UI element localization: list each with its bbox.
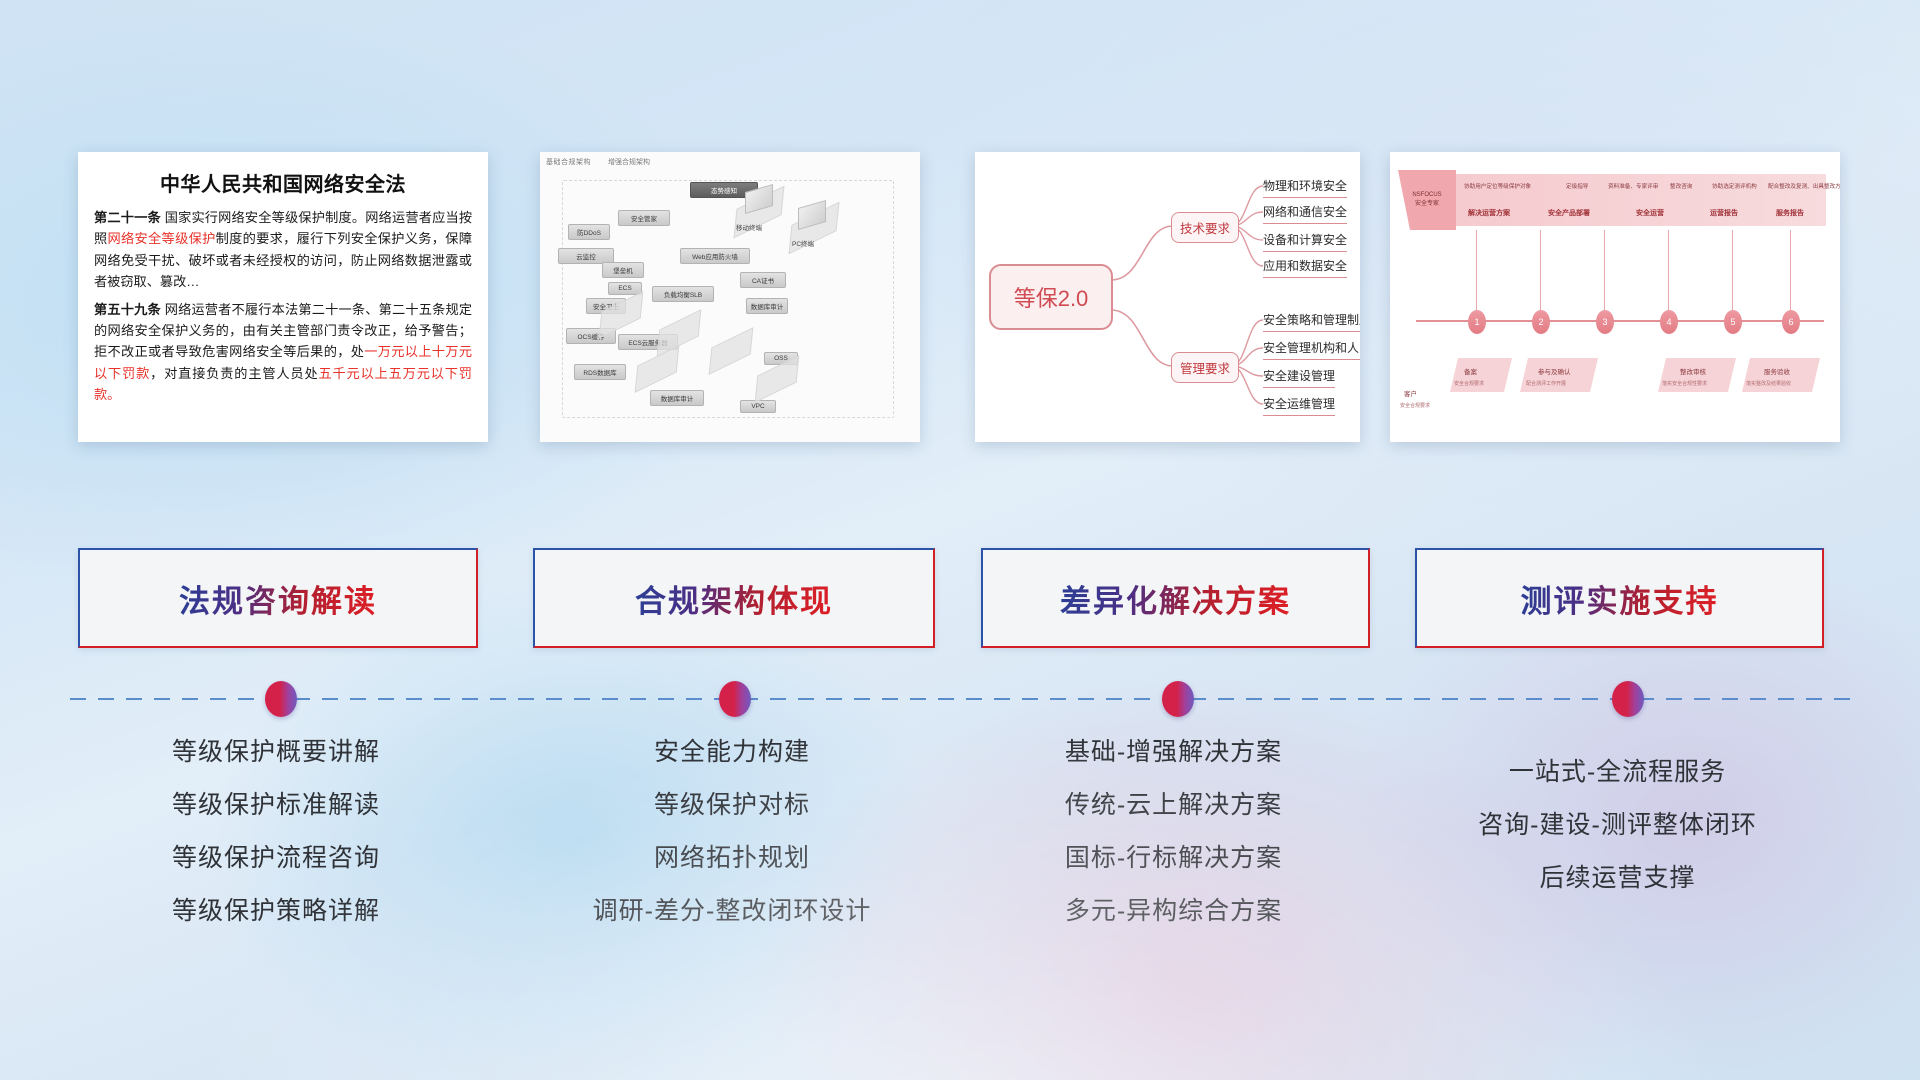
mindmap-leaf-mgmt-2: 安全建设管理 [1263, 367, 1335, 388]
detail-column-0: 等级保护概要讲解 等级保护标准解读 等级保护流程咨询 等级保护策略详解 [78, 740, 474, 952]
mindmap-root: 等保2.0 [989, 264, 1113, 330]
nsfocus-tick-5 [1790, 230, 1791, 312]
law-article-21: 第二十一条 国家实行网络安全等级保护制度。网络运营者应当按照网络安全等级保护制度… [94, 207, 472, 293]
nsfocus-step-3: 4 [1660, 310, 1678, 334]
headline-box-regulation-consulting[interactable]: 法规咨询解读 [78, 548, 478, 648]
arch-node-bastion: 堡垒机 [602, 262, 644, 278]
list-item: 后续运营支撑 [1415, 866, 1820, 891]
mindmap-leaf-mgmt-3: 安全运维管理 [1263, 395, 1335, 416]
headline-label-1: 合规架构体现 [635, 576, 833, 621]
detail-column-3: 一站式-全流程服务 咨询-建设-测评整体闭环 后续运营支撑 [1415, 760, 1820, 919]
list-item: 网络拓扑规划 [533, 846, 931, 871]
timeline-dot-1[interactable] [719, 681, 751, 717]
nsfocus-step-1: 2 [1532, 310, 1550, 334]
nsfocus-tag-3-sub: 落实整改及结果验收 [1746, 380, 1791, 387]
nsfocus-tick-3 [1668, 230, 1669, 312]
list-item: 等级保护标准解读 [78, 793, 474, 818]
nsfocus-header-item-0: 协助用户定位等级保护对象 [1464, 182, 1531, 190]
nsfocus-tag-0-sub: 安全合规要求 [1454, 380, 1484, 387]
arch-tab-left: 基础合规架构 [546, 157, 591, 167]
mindmap-leaf-tech-2: 设备和计算安全 [1263, 231, 1347, 252]
nsfocus-logo-line1: NSFOCUS [1412, 192, 1441, 200]
nsfocus-step-0: 1 [1468, 310, 1486, 334]
nsfocus-tick-0 [1476, 230, 1477, 312]
nsfocus-stage-3: 运营报告 [1710, 208, 1738, 218]
mindmap-branch-tech: 技术要求 [1171, 212, 1239, 243]
timeline-dot-3[interactable] [1612, 681, 1644, 717]
nsfocus-stage-0: 解决运营方案 [1468, 208, 1510, 218]
nsfocus-tag-3-title: 服务验收 [1764, 366, 1790, 376]
mindmap-leaf-mgmt-0: 安全策略和管理制度 [1263, 311, 1360, 332]
timeline-dashed-line [70, 698, 1850, 700]
nsfocus-header-item-2: 资料准备、专家评审 [1608, 182, 1658, 190]
law-title: 中华人民共和国网络安全法 [94, 168, 472, 197]
arch-node-ddos: 防DDoS [568, 224, 610, 240]
image-card-row: 中华人民共和国网络安全法 第二十一条 国家实行网络安全等级保护制度。网络运营者应… [0, 0, 1920, 310]
article-59-label: 第五十九条 [94, 302, 161, 317]
headline-box-evaluation-support[interactable]: 测评实施支持 [1415, 548, 1824, 648]
list-item: 安全能力构建 [533, 740, 931, 765]
arch-label-b: PC终端 [792, 238, 814, 248]
nsfocus-header-item-4: 协助选定测评机构 [1712, 182, 1757, 190]
nsfocus-step-5: 6 [1782, 310, 1800, 334]
nsfocus-tick-1 [1540, 230, 1541, 312]
card-nsfocus-service-flow: NSFOCUS 安全专家 协助用户定位等级保护对象 定级指导 资料准备、专家评审… [1390, 152, 1840, 442]
list-item: 国标-行标解决方案 [981, 846, 1366, 871]
architecture-diagram: 基础合规架构 增强合规架构 态势感知 移动终端 PC终端 防DDoS 云监控 安… [540, 152, 920, 442]
detail-column-1: 安全能力构建 等级保护对标 网络拓扑规划 调研-差分-整改闭环设计 [533, 740, 931, 952]
mindmap-branch-mgmt: 管理要求 [1171, 352, 1239, 383]
arch-node-rds: RDS数据库 [574, 364, 626, 380]
nsfocus-stage-2: 安全运营 [1636, 208, 1664, 218]
timeline [70, 698, 1850, 700]
headline-label-0: 法规咨询解读 [179, 576, 377, 621]
list-item: 一站式-全流程服务 [1415, 760, 1820, 785]
headline-box-compliance-architecture[interactable]: 合规架构体现 [533, 548, 935, 648]
nsfocus-tag-2-sub: 落实安全合规性要求 [1662, 380, 1707, 387]
timeline-dot-2[interactable] [1162, 681, 1194, 717]
detail-list-row: 等级保护概要讲解 等级保护标准解读 等级保护流程咨询 等级保护策略详解 安全能力… [0, 740, 1920, 1020]
nsfocus-stage-4: 服务报告 [1776, 208, 1804, 218]
nsfocus-header-item-3: 整改咨询 [1670, 182, 1692, 190]
arch-node-waf: Web应用防火墙 [680, 248, 750, 264]
list-item: 调研-差分-整改闭环设计 [533, 899, 931, 924]
nsfocus-tick-2 [1604, 230, 1605, 312]
card-cybersecurity-law: 中华人民共和国网络安全法 第二十一条 国家实行网络安全等级保护制度。网络运营者应… [78, 152, 488, 442]
list-item: 基础-增强解决方案 [981, 740, 1366, 765]
law-document: 中华人民共和国网络安全法 第二十一条 国家实行网络安全等级保护制度。网络运营者应… [78, 152, 488, 442]
mindmap: 等保2.0 技术要求 管理要求 物理和环境安全 网络和通信安全 设备和计算安全 … [975, 152, 1360, 442]
nsfocus-stage-1: 安全产品部署 [1548, 208, 1590, 218]
arch-label-a: 移动终端 [736, 222, 762, 232]
card-mindmap-dengbao: 等保2.0 技术要求 管理要求 物理和环境安全 网络和通信安全 设备和计算安全 … [975, 152, 1360, 442]
mindmap-leaf-tech-1: 网络和通信安全 [1263, 203, 1347, 224]
arch-tab-right: 增强合规架构 [608, 157, 650, 167]
list-item: 等级保护流程咨询 [78, 846, 474, 871]
nsfocus-step-2: 3 [1596, 310, 1614, 334]
nsfocus-tag-0-title: 备案 [1464, 366, 1477, 376]
arch-node-vpc: VPC [740, 400, 776, 413]
article-21-highlight: 网络安全等级保护 [108, 231, 216, 246]
nsfocus-step-4: 5 [1724, 310, 1742, 334]
article-21-label: 第二十一条 [94, 210, 161, 225]
arch-node-ca: CA证书 [740, 272, 786, 288]
list-item: 等级保护策略详解 [78, 899, 474, 924]
nsfocus-header-item-1: 定级指导 [1566, 182, 1588, 190]
nsfocus-logo: NSFOCUS 安全专家 [1398, 170, 1456, 230]
mindmap-leaf-tech-3: 应用和数据安全 [1263, 257, 1347, 278]
nsfocus-flow: NSFOCUS 安全专家 协助用户定位等级保护对象 定级指导 资料准备、专家评审… [1390, 152, 1840, 442]
timeline-dot-0[interactable] [265, 681, 297, 717]
nsfocus-tick-4 [1732, 230, 1733, 312]
mindmap-leaf-tech-0: 物理和环境安全 [1263, 177, 1347, 198]
slide-canvas: 中华人民共和国网络安全法 第二十一条 国家实行网络安全等级保护制度。网络运营者应… [0, 0, 1920, 1080]
arch-node-guard: 安全管家 [618, 210, 670, 226]
mindmap-leaf-mgmt-1: 安全管理机构和人员 [1263, 339, 1360, 360]
headline-label-3: 测评实施支持 [1521, 576, 1719, 621]
headline-box-row: 法规咨询解读 合规架构体现 差异化解决方案 测评实施支持 [0, 548, 1920, 644]
arch-node-dbaudit: 数据库审计 [650, 390, 704, 406]
law-article-59: 第五十九条 网络运营者不履行本法第二十一条、第二十五条规定的网络安全保护义务的，… [94, 299, 472, 406]
list-item: 传统-云上解决方案 [981, 793, 1366, 818]
nsfocus-logo-line2: 安全专家 [1415, 201, 1439, 209]
arch-node-slb: 负载均衡SLB [652, 286, 714, 302]
nsfocus-tag-1-sub: 配合测评工作开展 [1526, 380, 1566, 387]
nsfocus-customer-sub: 安全合规要求 [1400, 402, 1430, 409]
headline-label-2: 差异化解决方案 [1060, 576, 1291, 621]
detail-column-2: 基础-增强解决方案 传统-云上解决方案 国标-行标解决方案 多元-异构综合方案 [981, 740, 1366, 952]
list-item: 等级保护概要讲解 [78, 740, 474, 765]
nsfocus-header-item-5: 配合整改及复测、出具整改方案 [1768, 182, 1840, 190]
nsfocus-tag-1-title: 参与及确认 [1538, 366, 1571, 376]
list-item: 咨询-建设-测评整体闭环 [1415, 813, 1820, 838]
nsfocus-tag-2-title: 整改审核 [1680, 366, 1706, 376]
article-59-text-b: ，对直接负责的主管人员处 [150, 366, 318, 381]
list-item: 多元-异构综合方案 [981, 899, 1366, 924]
list-item: 等级保护对标 [533, 793, 931, 818]
nsfocus-customer-label: 客户 [1404, 388, 1417, 398]
headline-box-differentiated-solution[interactable]: 差异化解决方案 [981, 548, 1370, 648]
arch-node-ddosip: 数据库审计 [746, 298, 788, 314]
card-compliance-architecture: 基础合规架构 增强合规架构 态势感知 移动终端 PC终端 防DDoS 云监控 安… [540, 152, 920, 442]
